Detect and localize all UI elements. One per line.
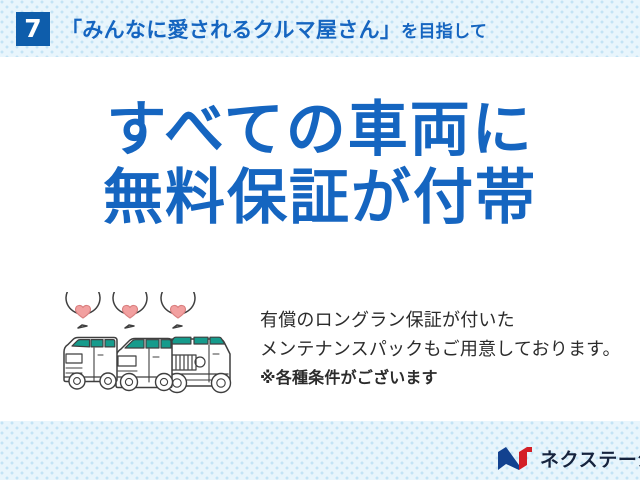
- heart-bubble-2: [113, 292, 147, 328]
- header-title-main: 「みんなに愛されるクルマ屋さん」: [61, 18, 401, 42]
- blurb: 有償のロングラン保証が付いた メンテナンスパックもご用意しております。 ※各種条…: [260, 306, 621, 392]
- brand-logo: ネクステージ: [497, 443, 640, 473]
- blurb-note: ※各種条件がございます: [260, 364, 621, 391]
- three-cars-with-heart-bubbles-illustration: [58, 292, 254, 400]
- headline: すべての車両に 無料保証が付帯: [0, 96, 640, 233]
- header: 7 「みんなに愛されるクルマ屋さん」を目指して: [0, 0, 640, 57]
- header-title-sub: を目指して: [401, 22, 487, 42]
- blurb-line-2: メンテナンスパックもご用意しております。: [260, 335, 621, 364]
- heart-bubble-1: [66, 292, 100, 328]
- blurb-line-1: 有償のロングラン保証が付いた: [260, 306, 621, 335]
- n-logo-icon: [497, 446, 533, 471]
- lower-content: 有償のロングラン保証が付いた メンテナンスパックもご用意しております。 ※各種条…: [0, 292, 640, 402]
- header-title: 「みんなに愛されるクルマ屋さん」を目指して: [61, 14, 487, 44]
- heart-bubble-3: [161, 292, 195, 328]
- step-number-badge: 7: [16, 12, 50, 46]
- car-kei-wagon: [64, 338, 117, 390]
- promotional-banner: 7 「みんなに愛されるクルマ屋さん」を目指して すべての車両に 無料保証が付帯: [0, 0, 640, 480]
- car-minivan: [116, 339, 173, 391]
- headline-line-1: すべての車両に: [0, 96, 640, 164]
- headline-line-2: 無料保証が付帯: [0, 164, 640, 232]
- brand-name: ネクステージ: [540, 445, 640, 472]
